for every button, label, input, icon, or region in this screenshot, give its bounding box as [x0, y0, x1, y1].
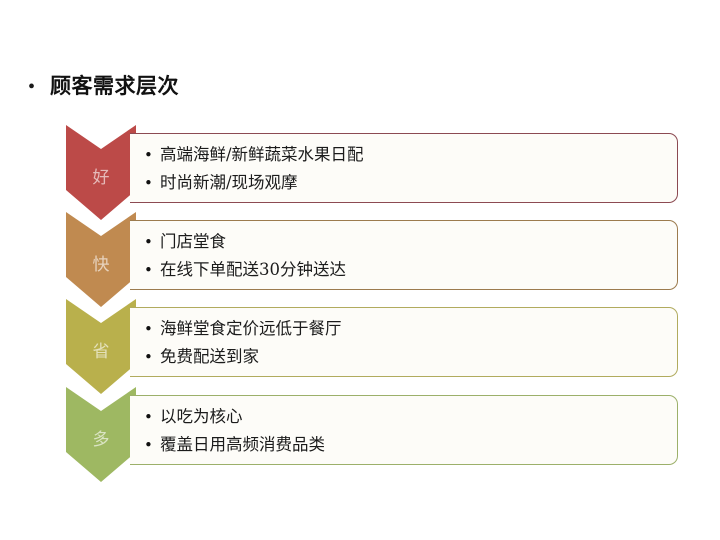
- list-item: • 在线下单配送30分钟送达: [144, 256, 667, 284]
- list-item-text: 以吃为核心: [160, 403, 243, 431]
- slide-canvas: • 顾客需求层次 好 • 高端海鲜/新鲜蔬菜水果日配 • 时尚新潮/现场观摩: [0, 0, 720, 540]
- list-item-text: 在线下单配送30分钟送达: [160, 256, 346, 284]
- bullet-icon: •: [144, 431, 160, 459]
- list-item: • 免费配送到家: [144, 343, 667, 371]
- bullet-icon: •: [144, 315, 160, 343]
- list-item: • 高端海鲜/新鲜蔬菜水果日配: [144, 141, 667, 169]
- list-item-text: 免费配送到家: [160, 343, 259, 371]
- chevron-polygon: [66, 212, 136, 307]
- list-item-text: 海鲜堂食定价远低于餐厅: [160, 315, 342, 343]
- bullet-icon: •: [144, 403, 160, 431]
- list-item: • 以吃为核心: [144, 403, 667, 431]
- chevron-textbox: • 高端海鲜/新鲜蔬菜水果日配 • 时尚新潮/现场观摩: [130, 133, 678, 203]
- list-item-text: 时尚新潮/现场观摩: [160, 169, 298, 197]
- list-item-text: 门店堂食: [160, 228, 226, 256]
- list-item: • 时尚新潮/现场观摩: [144, 169, 667, 197]
- list-item-text: 覆盖日用高频消费品类: [160, 431, 325, 459]
- chevron-polygon: [66, 299, 136, 394]
- list-item-text: 高端海鲜/新鲜蔬菜水果日配: [160, 141, 364, 169]
- list-item: • 覆盖日用高频消费品类: [144, 431, 667, 459]
- list-item: • 海鲜堂食定价远低于餐厅: [144, 315, 667, 343]
- bullet-icon: •: [144, 256, 160, 284]
- chevron-textbox: • 海鲜堂食定价远低于餐厅 • 免费配送到家: [130, 307, 678, 377]
- chevron-polygon: [66, 387, 136, 482]
- chevron-textbox: • 以吃为核心 • 覆盖日用高频消费品类: [130, 395, 678, 465]
- chevron-row: 多 • 以吃为核心 • 覆盖日用高频消费品类: [0, 387, 720, 497]
- bullet-icon: •: [144, 169, 160, 197]
- bullet-icon: •: [144, 228, 160, 256]
- chevron-textbox: • 门店堂食 • 在线下单配送30分钟送达: [130, 220, 678, 290]
- chevron-icon: [66, 387, 136, 497]
- bullet-icon: •: [144, 343, 160, 371]
- bullet-icon: •: [144, 141, 160, 169]
- list-item: • 门店堂食: [144, 228, 667, 256]
- chevron-polygon: [66, 125, 136, 220]
- chevron-shape-wrapper: 多: [66, 387, 136, 497]
- chevron-diagram: 好 • 高端海鲜/新鲜蔬菜水果日配 • 时尚新潮/现场观摩 快: [0, 0, 720, 540]
